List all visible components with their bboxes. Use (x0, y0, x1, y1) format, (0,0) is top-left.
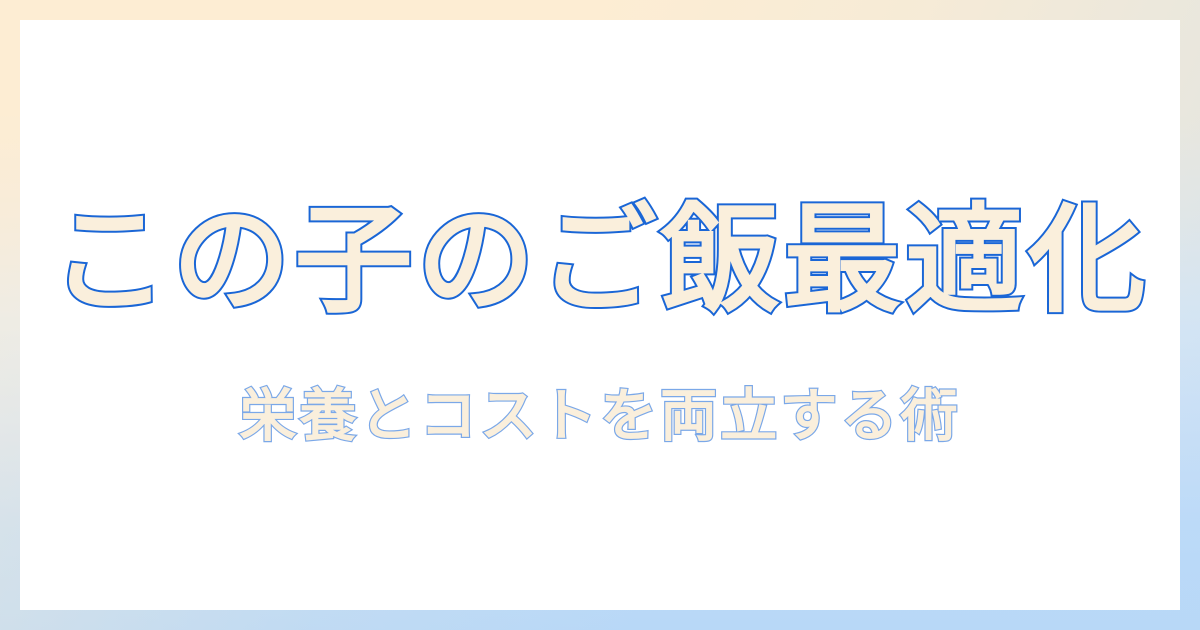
ogp-card: この子のご飯最適化 栄養とコストを両立する術 (0, 0, 1200, 630)
subtitle-text: 栄養とコストを両立する術 (239, 379, 961, 453)
text-stack: この子のご飯最適化 栄養とコストを両立する術 (20, 189, 1180, 453)
content-stage: この子のご飯最適化 栄養とコストを両立する術 (20, 20, 1180, 610)
headline-title: この子のご飯最適化 (50, 189, 1149, 333)
